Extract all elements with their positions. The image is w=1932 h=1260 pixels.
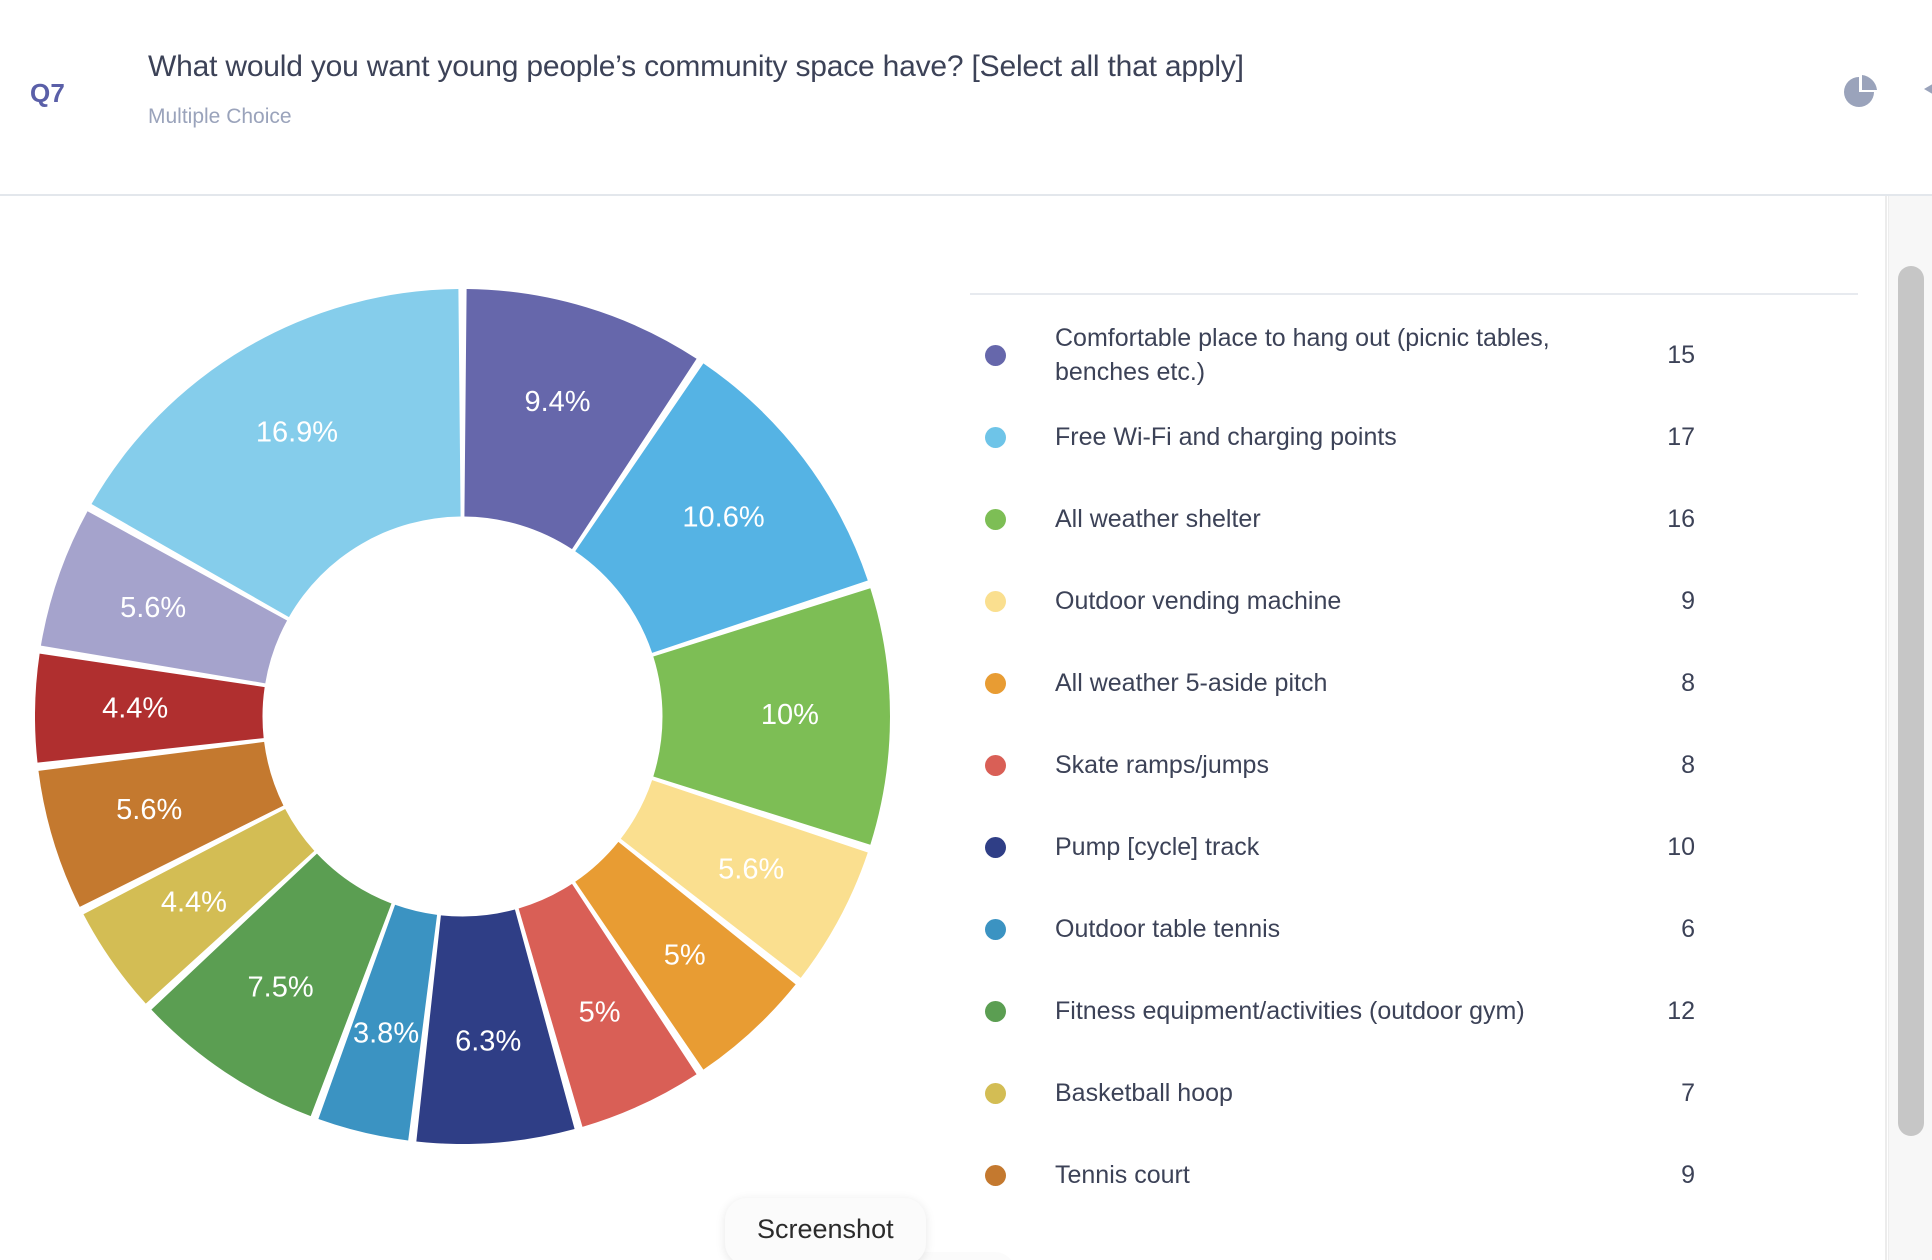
legend-label: Skate ramps/jumps <box>1055 748 1615 782</box>
legend-value: 9 <box>1615 587 1695 616</box>
donut-slice-percent-label: 5.6% <box>116 794 182 826</box>
legend-color-swatch <box>985 1083 1006 1104</box>
legend-row[interactable]: Comfortable place to hang out (picnic ta… <box>968 314 1888 396</box>
legend-value: 15 <box>1615 341 1695 370</box>
legend-color-swatch <box>985 1165 1006 1186</box>
legend-row[interactable]: Fitness equipment/activities (outdoor gy… <box>968 970 1888 1052</box>
donut-slice-percent-label: 5.6% <box>718 853 784 885</box>
legend-color-swatch <box>985 755 1006 776</box>
legend-color-swatch <box>985 345 1006 366</box>
donut-slice-percent-label: 5.6% <box>120 592 186 624</box>
legend-row[interactable]: Basketball hoop7 <box>968 1052 1888 1134</box>
legend-value: 9 <box>1615 1161 1695 1190</box>
legend-color-swatch <box>985 591 1006 612</box>
donut-slice-percent-label: 10.6% <box>682 502 764 534</box>
legend-label: All weather shelter <box>1055 502 1615 536</box>
donut-slice-percent-label: 4.4% <box>161 886 227 918</box>
legend-row[interactable]: All weather shelter16 <box>968 478 1888 560</box>
legend-color-swatch <box>985 919 1006 940</box>
donut-slice-percent-label: 7.5% <box>248 971 314 1003</box>
legend-label: All weather 5-aside pitch <box>1055 666 1615 700</box>
legend-label: Outdoor vending machine <box>1055 584 1615 618</box>
donut-slice-percent-label: 4.4% <box>102 693 168 725</box>
donut-slice-percent-label: 5% <box>579 996 621 1028</box>
panel-edge-divider <box>1885 196 1887 1260</box>
legend-value: 8 <box>1615 751 1695 780</box>
legend-color-swatch <box>985 837 1006 858</box>
legend-value: 16 <box>1615 505 1695 534</box>
pie-chart-icon[interactable] <box>1838 70 1882 114</box>
legend-label: Outdoor table tennis <box>1055 912 1615 946</box>
question-type-label: Multiple Choice <box>148 105 292 129</box>
legend-color-swatch <box>985 1001 1006 1022</box>
legend-row[interactable]: Tennis court9 <box>968 1134 1888 1216</box>
legend-divider <box>970 293 1858 295</box>
legend-value: 7 <box>1615 1079 1695 1108</box>
survey-result-page: Q7 What would you want young people’s co… <box>0 0 1932 1260</box>
question-number: Q7 <box>30 78 65 109</box>
legend-list: Comfortable place to hang out (picnic ta… <box>968 314 1888 1216</box>
donut-slice-percent-label: 5% <box>664 940 706 972</box>
vertical-scrollbar-thumb[interactable] <box>1898 266 1924 1136</box>
page-title: What would you want young people’s commu… <box>148 50 1244 84</box>
legend-label: Pump [cycle] track <box>1055 830 1615 864</box>
legend-label: Basketball hoop <box>1055 1076 1615 1110</box>
legend-row[interactable]: Outdoor vending machine9 <box>968 560 1888 642</box>
donut-slice-percent-label: 3.8% <box>353 1018 419 1050</box>
legend-label: Comfortable place to hang out (picnic ta… <box>1055 321 1615 389</box>
chart-panel: 9.4%10.6%10%5.6%5%5%6.3%3.8%7.5%4.4%5.6%… <box>0 196 968 1260</box>
legend-value: 6 <box>1615 915 1695 944</box>
legend-label: Fitness equipment/activities (outdoor gy… <box>1055 994 1615 1028</box>
legend-label: Tennis court <box>1055 1158 1615 1192</box>
legend-row[interactable]: Pump [cycle] track10 <box>968 806 1888 888</box>
legend-row[interactable]: Free Wi-Fi and charging points17 <box>968 396 1888 478</box>
question-header: Q7 What would you want young people’s co… <box>0 0 1932 196</box>
legend-color-swatch <box>985 673 1006 694</box>
donut-slice-percent-label: 10% <box>761 699 819 731</box>
donut-slice-percent-label: 16.9% <box>256 417 338 449</box>
legend-value: 12 <box>1615 997 1695 1026</box>
donut-slice-percent-label: 9.4% <box>524 386 590 418</box>
legend-value: 8 <box>1615 669 1695 698</box>
legend-row[interactable]: Skate ramps/jumps8 <box>968 724 1888 806</box>
screenshot-button[interactable]: Screenshot <box>725 1198 926 1260</box>
legend-row[interactable]: Outdoor table tennis6 <box>968 888 1888 970</box>
donut-svg[interactable]: 9.4%10.6%10%5.6%5%5%6.3%3.8%7.5%4.4%5.6%… <box>35 289 890 1144</box>
legend-label: Free Wi-Fi and charging points <box>1055 420 1615 454</box>
vertical-scrollbar-track[interactable] <box>1888 196 1932 1260</box>
legend-value: 17 <box>1615 423 1695 452</box>
legend-row[interactable]: All weather 5-aside pitch8 <box>968 642 1888 724</box>
donut-slice-percent-label: 6.3% <box>455 1026 521 1058</box>
legend-value: 10 <box>1615 833 1695 862</box>
legend-panel: Comfortable place to hang out (picnic ta… <box>968 196 1888 1260</box>
legend-color-swatch <box>985 509 1006 530</box>
clipped-toolbar-icon[interactable] <box>1922 78 1932 100</box>
legend-color-swatch <box>985 427 1006 448</box>
donut-chart[interactable]: 9.4%10.6%10%5.6%5%5%6.3%3.8%7.5%4.4%5.6%… <box>35 289 890 1144</box>
